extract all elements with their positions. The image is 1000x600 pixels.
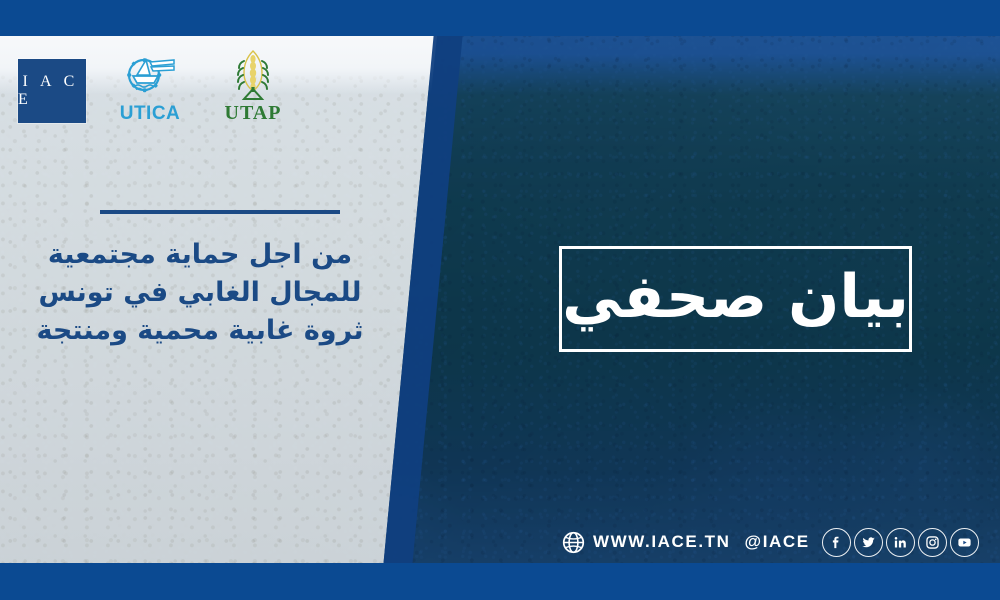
- utica-logo-text: UTICA: [112, 104, 188, 123]
- facebook-icon[interactable]: [822, 528, 851, 557]
- top-blue-bar: [0, 0, 1000, 36]
- social-icons-row: [822, 528, 979, 557]
- utap-logo[interactable]: UTAP: [214, 48, 292, 123]
- partner-logos-row: I A C E: [18, 48, 292, 123]
- instagram-icon[interactable]: [918, 528, 947, 557]
- utica-logo[interactable]: UTICA: [112, 51, 188, 123]
- slogan-line-2: للمجال الغابي في تونس: [0, 274, 400, 312]
- headline-box: بيان صحفي: [559, 246, 912, 352]
- footer-contact-row: WWW.IACE.TN @IACE: [562, 525, 979, 559]
- iace-logo-text: I A C E: [18, 73, 86, 109]
- utap-wheat-wreath-logo: [214, 48, 292, 104]
- youtube-icon[interactable]: [950, 528, 979, 557]
- slogan-divider-rule: [100, 210, 340, 214]
- utica-gear-ship-logo: [112, 51, 188, 103]
- headline-text: بيان صحفي: [562, 267, 909, 327]
- linkedin-icon[interactable]: [886, 528, 915, 557]
- slogan-line-3: ثروة غابية محمية ومنتجة: [0, 312, 400, 350]
- slogan-line-1: من اجل حماية مجتمعية: [0, 236, 400, 274]
- slogan-text: من اجل حماية مجتمعية للمجال الغابي في تو…: [0, 236, 414, 349]
- utap-logo-text: UTAP: [214, 103, 292, 123]
- bottom-blue-bar: [0, 563, 1000, 600]
- website-url[interactable]: WWW.IACE.TN: [593, 532, 731, 552]
- globe-icon: [562, 531, 585, 554]
- iace-logo[interactable]: I A C E: [18, 59, 86, 123]
- press-release-banner: I A C E: [0, 0, 1000, 600]
- twitter-icon[interactable]: [854, 528, 883, 557]
- social-handle[interactable]: @IACE: [745, 532, 810, 552]
